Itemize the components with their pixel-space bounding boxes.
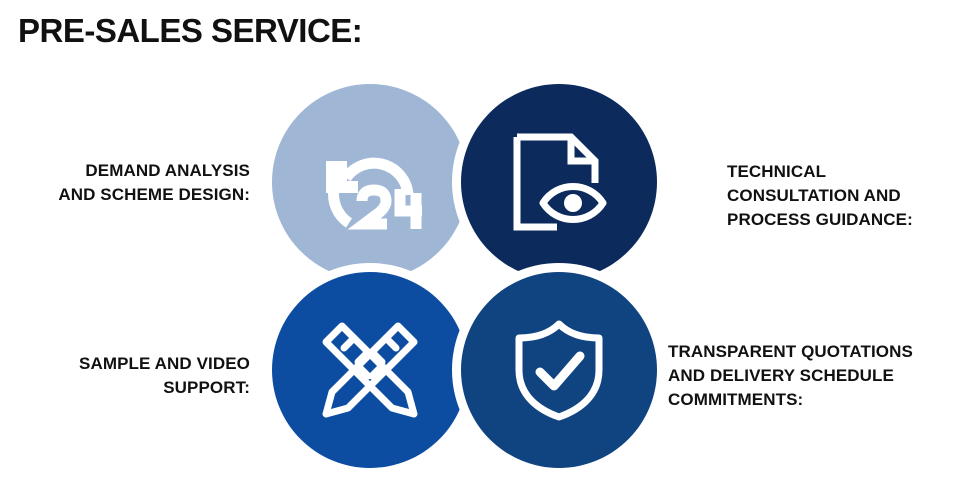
label-line: TECHNICAL [727, 160, 952, 184]
page-title: PRE-SALES SERVICE: [18, 12, 362, 50]
circle-transparent-quotations[interactable] [461, 272, 657, 468]
circle-demand-analysis[interactable] [272, 84, 468, 280]
label-line: DEMAND ANALYSIS [10, 159, 250, 183]
circle-sample-video-support[interactable] [272, 272, 468, 468]
label-line: AND SCHEME DESIGN: [10, 183, 250, 207]
label-transparent-quotations: TRANSPARENT QUOTATIONS AND DELIVERY SCHE… [668, 340, 958, 412]
label-line: TRANSPARENT QUOTATIONS [668, 340, 958, 364]
label-line: AND DELIVERY SCHEDULE [668, 364, 958, 388]
label-line: SUPPORT: [10, 376, 250, 400]
label-line: CONSULTATION AND [727, 184, 952, 208]
label-line: SAMPLE AND VIDEO [10, 352, 250, 376]
label-sample-video-support: SAMPLE AND VIDEO SUPPORT: [10, 352, 250, 400]
label-technical-consultation: TECHNICAL CONSULTATION AND PROCESS GUIDA… [727, 160, 952, 232]
circle-technical-consultation[interactable] [461, 84, 657, 280]
four-circle-diagram [272, 84, 688, 484]
shield-check-icon [511, 318, 607, 422]
rotate-24-hours-icon [316, 131, 424, 233]
pencil-ruler-icon [318, 318, 422, 422]
label-demand-analysis: DEMAND ANALYSIS AND SCHEME DESIGN: [10, 159, 250, 207]
label-line: COMMITMENTS: [668, 388, 958, 412]
label-line: PROCESS GUIDANCE: [727, 208, 952, 232]
document-eye-icon [509, 131, 609, 233]
